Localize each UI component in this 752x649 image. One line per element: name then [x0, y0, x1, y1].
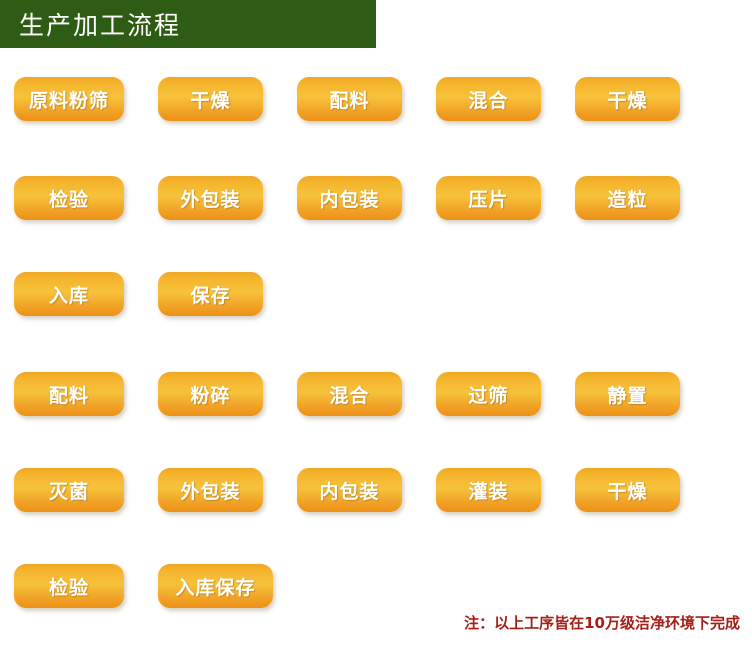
node-label: 灌装	[468, 477, 508, 504]
node-label: 保存	[190, 281, 230, 308]
arrow-down-icon-flow-b-2	[57, 524, 81, 558]
node-label: 内包装	[319, 477, 379, 504]
process-node-outer-packaging-2[interactable]: 外包装	[158, 468, 263, 512]
node-label: 入库保存	[175, 573, 255, 600]
process-node-sterilization[interactable]: 灭菌	[14, 468, 124, 512]
node-label: 检验	[49, 185, 89, 212]
arrow-down-icon-flow-a-1	[644, 134, 668, 168]
node-label: 灭菌	[49, 477, 89, 504]
process-node-outer-packaging-1[interactable]: 外包装	[158, 176, 263, 220]
arrow-right-glyph	[267, 88, 293, 110]
arrow-right-icon	[124, 272, 158, 316]
arrow-right-glyph	[128, 575, 154, 597]
page-title-banner: 生产加工流程	[0, 0, 376, 48]
process-node-warehousing[interactable]: 入库	[14, 272, 124, 316]
arrow-right-glyph	[267, 383, 293, 405]
arrow-right-glyph	[128, 383, 154, 405]
process-node-drying-2[interactable]: 干燥	[575, 77, 680, 121]
arrow-left-glyph	[545, 187, 571, 209]
arrow-right-icon	[263, 77, 297, 121]
flow-b-row-1: 配料 粉碎 混合 过筛 静置	[14, 372, 680, 416]
flow-a-row-1: 原料粉筛 干燥 配料 混合 干燥	[14, 77, 680, 121]
node-label: 干燥	[607, 86, 647, 113]
process-node-raw-material-sieving[interactable]: 原料粉筛	[14, 77, 124, 121]
node-label: 原料粉筛	[29, 86, 109, 113]
node-label: 内包装	[319, 185, 379, 212]
flow-a-row-3: 入库 保存	[14, 272, 263, 316]
process-node-crushing[interactable]: 粉碎	[158, 372, 263, 416]
process-node-tableting[interactable]: 压片	[436, 176, 541, 220]
node-label: 配料	[329, 86, 369, 113]
process-node-mixing-1[interactable]: 混合	[436, 77, 541, 121]
node-label: 静置	[607, 381, 647, 408]
node-label: 检验	[49, 573, 89, 600]
node-label: 造粒	[607, 185, 647, 212]
node-label: 过筛	[468, 381, 508, 408]
arrow-right-glyph	[406, 383, 432, 405]
arrow-right-glyph	[545, 88, 571, 110]
arrow-right-icon	[124, 564, 158, 608]
arrow-down-icon-flow-a-2	[57, 232, 81, 266]
process-node-warehousing-storage[interactable]: 入库保存	[158, 564, 273, 608]
arrow-left-glyph	[406, 479, 432, 501]
process-node-inner-packaging-2[interactable]: 内包装	[297, 468, 402, 512]
arrow-right-icon	[124, 372, 158, 416]
node-label: 配料	[49, 381, 89, 408]
arrow-right-icon	[541, 77, 575, 121]
footer-note: 注：以上工序皆在10万级洁净环境下完成	[464, 612, 740, 633]
node-label: 混合	[329, 381, 369, 408]
node-label: 外包装	[180, 477, 240, 504]
process-node-drying-1[interactable]: 干燥	[158, 77, 263, 121]
arrow-left-glyph	[128, 187, 154, 209]
arrow-left-glyph	[406, 187, 432, 209]
arrow-left-icon	[263, 468, 297, 512]
arrow-left-icon	[402, 176, 436, 220]
arrow-right-glyph	[406, 88, 432, 110]
arrow-left-icon	[263, 176, 297, 220]
arrow-left-glyph	[267, 187, 293, 209]
arrow-left-icon	[541, 468, 575, 512]
arrow-left-icon	[124, 176, 158, 220]
flow-a-row-2: 检验 外包装 内包装 压片 造粒	[14, 176, 680, 220]
process-node-granulating[interactable]: 造粒	[575, 176, 680, 220]
process-node-storage[interactable]: 保存	[158, 272, 263, 316]
arrow-right-icon	[124, 77, 158, 121]
flow-b-row-3: 检验 入库保存	[14, 564, 273, 608]
node-label: 压片	[468, 185, 508, 212]
arrow-left-icon	[402, 468, 436, 512]
node-label: 干燥	[607, 477, 647, 504]
arrow-left-glyph	[545, 479, 571, 501]
arrow-right-icon	[402, 77, 436, 121]
arrow-right-glyph	[128, 283, 154, 305]
node-label: 粉碎	[190, 381, 230, 408]
node-label: 混合	[468, 86, 508, 113]
arrow-right-glyph	[545, 383, 571, 405]
process-node-mixing-2[interactable]: 混合	[297, 372, 402, 416]
process-node-inspection-2[interactable]: 检验	[14, 564, 124, 608]
arrow-down-icon-flow-b-1	[644, 429, 668, 463]
process-node-screening[interactable]: 过筛	[436, 372, 541, 416]
process-node-batching-2[interactable]: 配料	[14, 372, 124, 416]
page-title: 生产加工流程	[19, 6, 181, 42]
process-node-resting[interactable]: 静置	[575, 372, 680, 416]
arrow-right-glyph	[128, 88, 154, 110]
node-label: 干燥	[190, 86, 230, 113]
process-node-batching-1[interactable]: 配料	[297, 77, 402, 121]
arrow-left-icon	[124, 468, 158, 512]
arrow-right-icon	[263, 372, 297, 416]
arrow-right-icon	[541, 372, 575, 416]
process-node-filling[interactable]: 灌装	[436, 468, 541, 512]
arrow-left-glyph	[128, 479, 154, 501]
process-node-drying-3[interactable]: 干燥	[575, 468, 680, 512]
node-label: 外包装	[180, 185, 240, 212]
arrow-right-icon	[402, 372, 436, 416]
arrow-left-glyph	[267, 479, 293, 501]
flow-b-row-2: 灭菌 外包装 内包装 灌装 干燥	[14, 468, 680, 512]
arrow-left-icon	[541, 176, 575, 220]
process-node-inspection-1[interactable]: 检验	[14, 176, 124, 220]
process-node-inner-packaging-1[interactable]: 内包装	[297, 176, 402, 220]
node-label: 入库	[49, 281, 89, 308]
